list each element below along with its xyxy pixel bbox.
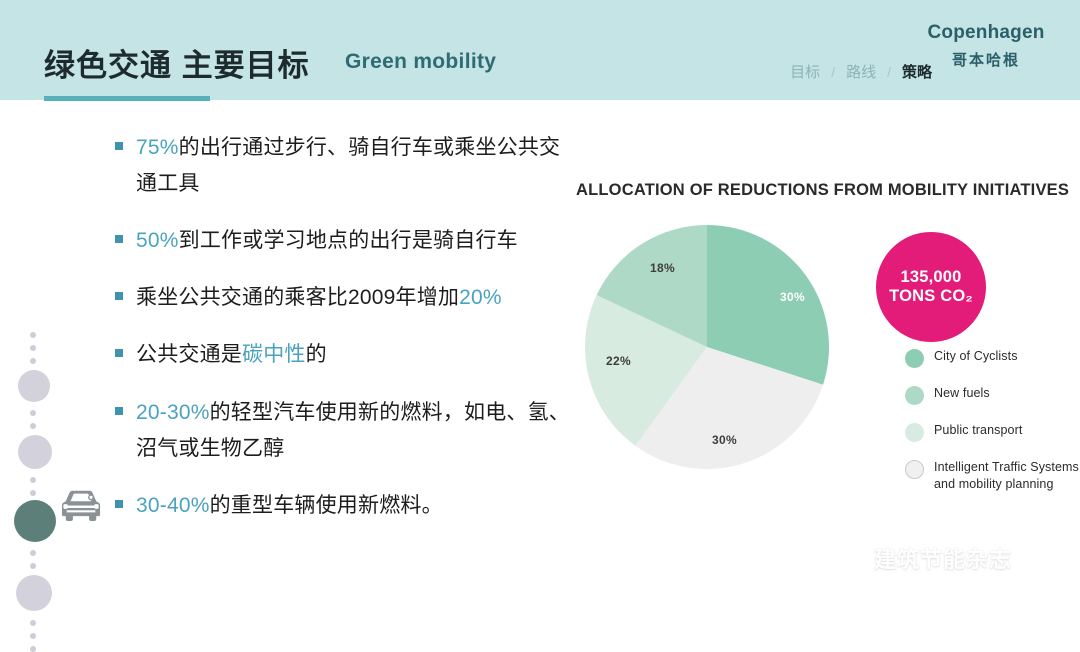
- list-item: 公共交通是碳中性的: [112, 337, 572, 373]
- bullet-marker-icon: [115, 407, 123, 415]
- nav-separator-1: /: [831, 64, 835, 80]
- watermark: 建筑节能杂志: [836, 542, 1012, 574]
- timeline-dot: [30, 332, 36, 338]
- bullet-marker-icon: [115, 142, 123, 150]
- breadcrumb: 目标 / 路线 / 策略: [790, 61, 932, 82]
- nav-item-goals[interactable]: 目标: [790, 61, 820, 82]
- timeline-nav: [0, 100, 110, 607]
- brand-name-chinese: 哥本哈根: [916, 49, 1056, 70]
- timeline-dot: [30, 646, 36, 652]
- list-item: 乘坐公共交通的乘客比2009年增加20%: [112, 280, 572, 316]
- bullet-body: 的出行通过步行、骑自行车或乘坐公共交通工具: [136, 136, 560, 195]
- wechat-icon: [836, 545, 866, 571]
- bullet-highlight: 碳中性: [242, 343, 306, 366]
- legend-item-public-transport: Public transport: [905, 422, 1080, 442]
- slide-canvas: 绿色交通 主要目标 Green mobility 目标 / 路线 / 策略 Co…: [0, 0, 1080, 607]
- timeline-node-active[interactable]: [14, 500, 56, 542]
- page-subtitle-english: Green mobility: [345, 50, 496, 74]
- pie-slice-label: 22%: [606, 354, 631, 368]
- list-item: 50%到工作或学习地点的出行是骑自行车: [112, 223, 572, 259]
- timeline-node[interactable]: [18, 435, 52, 469]
- list-item: 75%的出行通过步行、骑自行车或乘坐公共交通工具: [112, 130, 572, 202]
- pie-slice-label: 30%: [780, 290, 805, 304]
- bullet-marker-icon: [115, 349, 123, 357]
- bullet-highlight: 20-30%: [136, 401, 210, 424]
- timeline-dot: [30, 410, 36, 416]
- legend-item-intelligent-traffic-systems: Intelligent Traffic Systems and mobility…: [905, 459, 1080, 492]
- legend-item-city-of-cyclists: City of Cyclists: [905, 348, 1080, 368]
- timeline-dot: [30, 345, 36, 351]
- bullet-highlight: 20%: [459, 286, 502, 309]
- watermark-text: 建筑节能杂志: [874, 542, 1012, 574]
- timeline-dot: [30, 633, 36, 639]
- legend-swatch: [905, 423, 924, 442]
- legend-label: City of Cyclists: [934, 348, 1018, 365]
- list-item: 20-30%的轻型汽车使用新的燃料，如电、氢、沼气或生物乙醇: [112, 395, 572, 467]
- legend-item-new-fuels: New fuels: [905, 385, 1080, 405]
- co2-badge: 135,000 TONS CO₂: [876, 232, 986, 342]
- nav-separator-2: /: [887, 64, 891, 80]
- legend-label: Intelligent Traffic Systems and mobility…: [934, 459, 1080, 492]
- legend-swatch: [905, 349, 924, 368]
- pie-chart: 30% 30% 22% 18%: [584, 224, 830, 470]
- slide-header: 绿色交通 主要目标 Green mobility 目标 / 路线 / 策略 Co…: [0, 0, 1080, 100]
- chart-legend: City of Cyclists New fuels Public transp…: [905, 348, 1080, 509]
- chart-title: ALLOCATION OF REDUCTIONS FROM MOBILITY I…: [576, 181, 1016, 200]
- bullet-highlight: 30-40%: [136, 494, 210, 517]
- timeline-dot: [30, 423, 36, 429]
- bullet-marker-icon: [115, 235, 123, 243]
- nav-item-route[interactable]: 路线: [846, 61, 876, 82]
- pie-slice-label: 18%: [650, 261, 675, 275]
- bullet-text: 乘坐公共交通的乘客比2009年增加20%: [136, 280, 572, 316]
- list-item: 30-40%的重型车辆使用新燃料。: [112, 488, 572, 524]
- legend-label: Public transport: [934, 422, 1022, 439]
- bullet-highlight: 75%: [136, 136, 179, 159]
- pie-slice-label: 30%: [712, 433, 737, 447]
- brand-name-english: Copenhagen: [916, 22, 1056, 44]
- bullet-marker-icon: [115, 500, 123, 508]
- legend-swatch: [905, 386, 924, 405]
- bullet-marker-icon: [115, 292, 123, 300]
- timeline-dot: [30, 490, 36, 496]
- timeline-node[interactable]: [16, 575, 52, 611]
- timeline-dot: [30, 477, 36, 483]
- bullet-text: 50%到工作或学习地点的出行是骑自行车: [136, 223, 572, 259]
- bullet-text: 30-40%的重型车辆使用新燃料。: [136, 488, 572, 524]
- bullet-lead: 乘坐公共交通的乘客比2009年增加: [136, 286, 459, 309]
- timeline-node[interactable]: [18, 370, 50, 402]
- legend-swatch: [905, 460, 924, 479]
- timeline-dot: [30, 550, 36, 556]
- timeline-dot: [30, 620, 36, 626]
- pie-chart-svg: [584, 224, 830, 470]
- bullet-text: 75%的出行通过步行、骑自行车或乘坐公共交通工具: [136, 130, 572, 202]
- page-title: 绿色交通 主要目标: [44, 40, 310, 85]
- bullet-highlight: 50%: [136, 229, 179, 252]
- timeline-dot: [30, 563, 36, 569]
- bullet-text: 公共交通是碳中性的: [136, 337, 572, 373]
- legend-label: New fuels: [934, 385, 990, 402]
- co2-unit: TONS CO₂: [889, 287, 973, 306]
- bullet-lead: 公共交通是: [136, 343, 242, 366]
- bullet-body: 的重型车辆使用新燃料。: [210, 494, 443, 517]
- bullet-text: 20-30%的轻型汽车使用新的燃料，如电、氢、沼气或生物乙醇: [136, 395, 572, 467]
- timeline-dot: [30, 358, 36, 364]
- bullet-list: 75%的出行通过步行、骑自行车或乘坐公共交通工具 50%到工作或学习地点的出行是…: [112, 130, 572, 545]
- brand-logo: Copenhagen 哥本哈根: [916, 22, 1056, 70]
- co2-amount: 135,000: [900, 268, 961, 287]
- bullet-body: 的: [306, 343, 327, 366]
- bullet-body: 到工作或学习地点的出行是骑自行车: [179, 229, 518, 252]
- car-icon: [58, 486, 104, 526]
